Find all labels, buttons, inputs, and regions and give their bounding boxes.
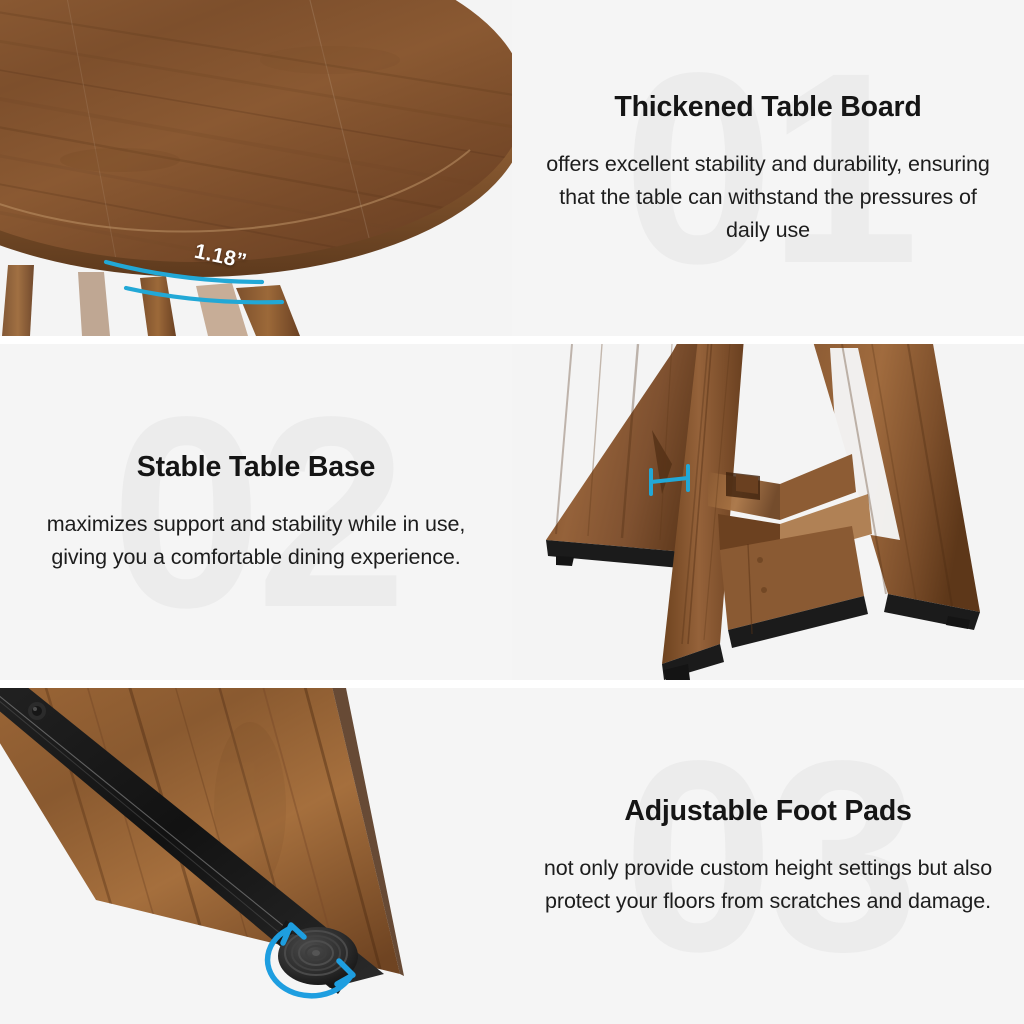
feature-03-photo xyxy=(0,688,512,1024)
feature-01-photo: 1.18” xyxy=(0,0,512,336)
feature-03-description: not only provide custom height settings … xyxy=(538,852,998,917)
feature-row-02: 02 Stable Table Base maximizes support a… xyxy=(0,344,1024,680)
feature-row-03: 03 Adjustable Foot Pads not only provide… xyxy=(0,688,1024,1024)
feature-02-title: Stable Table Base xyxy=(26,450,486,484)
feature-02-description: maximizes support and stability while in… xyxy=(26,508,486,573)
table-top-illustration xyxy=(0,0,512,336)
feature-02-copy: 02 Stable Table Base maximizes support a… xyxy=(0,344,512,680)
table-base-illustration xyxy=(512,344,1024,680)
feature-01-copy: 01 Thickened Table Board offers excellen… xyxy=(512,0,1024,336)
row-divider-1 xyxy=(0,336,1024,344)
feature-01-description: offers excellent stability and durabilit… xyxy=(538,148,998,246)
row-divider-2 xyxy=(0,680,1024,688)
foot-pad-illustration xyxy=(0,688,512,1024)
screw-icon xyxy=(28,702,46,720)
product-feature-infographic: 1.18” 01 Thickened Table Board offers ex… xyxy=(0,0,1024,1024)
feature-02-photo: 1.57” xyxy=(512,344,1024,680)
feature-01-title: Thickened Table Board xyxy=(538,90,998,124)
feature-03-title: Adjustable Foot Pads xyxy=(538,794,998,828)
feature-03-copy: 03 Adjustable Foot Pads not only provide… xyxy=(512,688,1024,1024)
feature-row-01: 1.18” 01 Thickened Table Board offers ex… xyxy=(0,0,1024,336)
